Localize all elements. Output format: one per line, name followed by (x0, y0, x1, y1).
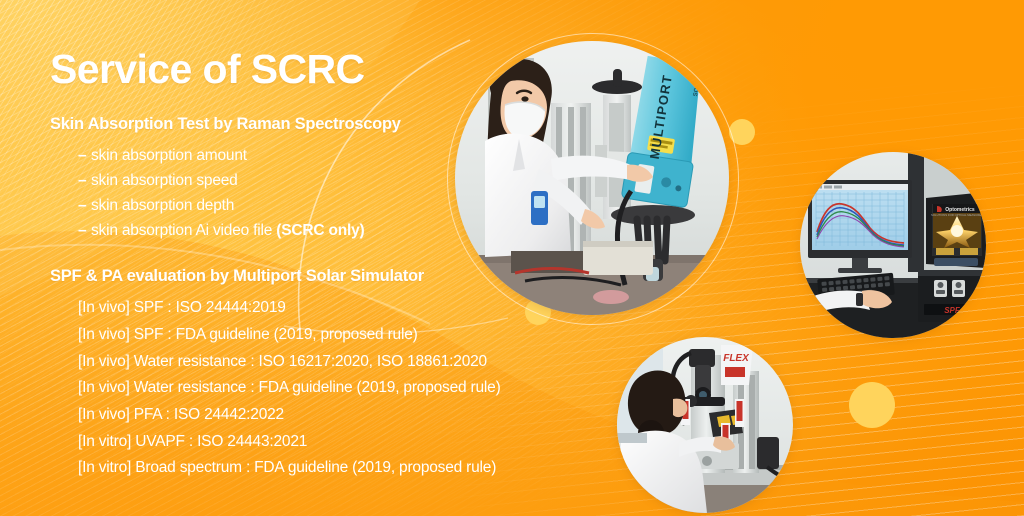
list-item: [In vivo] Water resistance : ISO 16217:2… (78, 349, 610, 376)
list-item-label: skin absorption depth (91, 197, 234, 214)
list-item: [In vivo] PFA : ISO 24442:2022 (78, 402, 610, 429)
list-item: [In vivo] SPF : ISO 24444:2019 (78, 295, 610, 322)
section-heading-skin-absorption: Skin Absorption Test by Raman Spectrosco… (50, 115, 610, 134)
section-heading-spf-pa: SPF & PA evaluation by Multiport Solar S… (50, 267, 610, 286)
svg-text:SOLUTIONS FOR OPTICAL MEASUREM: SOLUTIONS FOR OPTICAL MEASUREMENT (931, 213, 986, 217)
list-item-emphasis: (SCRC only) (276, 222, 364, 239)
text-column: Service of SCRC Skin Absorption Test by … (50, 48, 610, 482)
bullet-dash-icon: – (78, 193, 91, 218)
skin-absorption-list: –skin absorption amount –skin absorption… (50, 143, 610, 243)
page-title: Service of SCRC (50, 48, 610, 91)
spf-analyzer-photo: SPF-290 Optometrics SOLUTIONS FOR OPTICA… (800, 152, 986, 338)
decor-dot-bottom-right (849, 382, 895, 428)
list-item: [In vitro] Broad spectrum : FDA guidelin… (78, 455, 610, 482)
slide-root: MULTIPORT SOLAR (0, 0, 1024, 516)
spf-pa-list: [In vivo] SPF : ISO 24444:2019 [In vivo]… (50, 295, 610, 482)
list-item: [In vivo] SPF : FDA guideline (2019, pro… (78, 322, 610, 349)
list-item: –skin absorption speed (78, 168, 610, 193)
list-item-label: skin absorption Ai video file (91, 222, 276, 239)
section-spf-pa: SPF & PA evaluation by Multiport Solar S… (50, 267, 610, 482)
section-skin-absorption: Skin Absorption Test by Raman Spectrosco… (50, 115, 610, 243)
list-item: –skin absorption depth (78, 193, 610, 218)
list-item-label: skin absorption amount (91, 147, 247, 164)
list-item: –skin absorption amount (78, 143, 610, 168)
bullet-dash-icon: – (78, 168, 91, 193)
raman-spectroscopy-photo: FLEX (617, 337, 793, 513)
section-spacer (50, 243, 610, 267)
bullet-dash-icon: – (78, 143, 91, 168)
list-item-label: skin absorption speed (91, 172, 238, 189)
list-item: [In vitro] UVAPF : ISO 24443:2021 (78, 429, 610, 456)
list-item: [In vivo] Water resistance : FDA guideli… (78, 375, 610, 402)
list-item: –skin absorption Ai video file (SCRC onl… (78, 218, 610, 243)
bullet-dash-icon: – (78, 218, 91, 243)
svg-text:FLEX: FLEX (723, 353, 750, 364)
